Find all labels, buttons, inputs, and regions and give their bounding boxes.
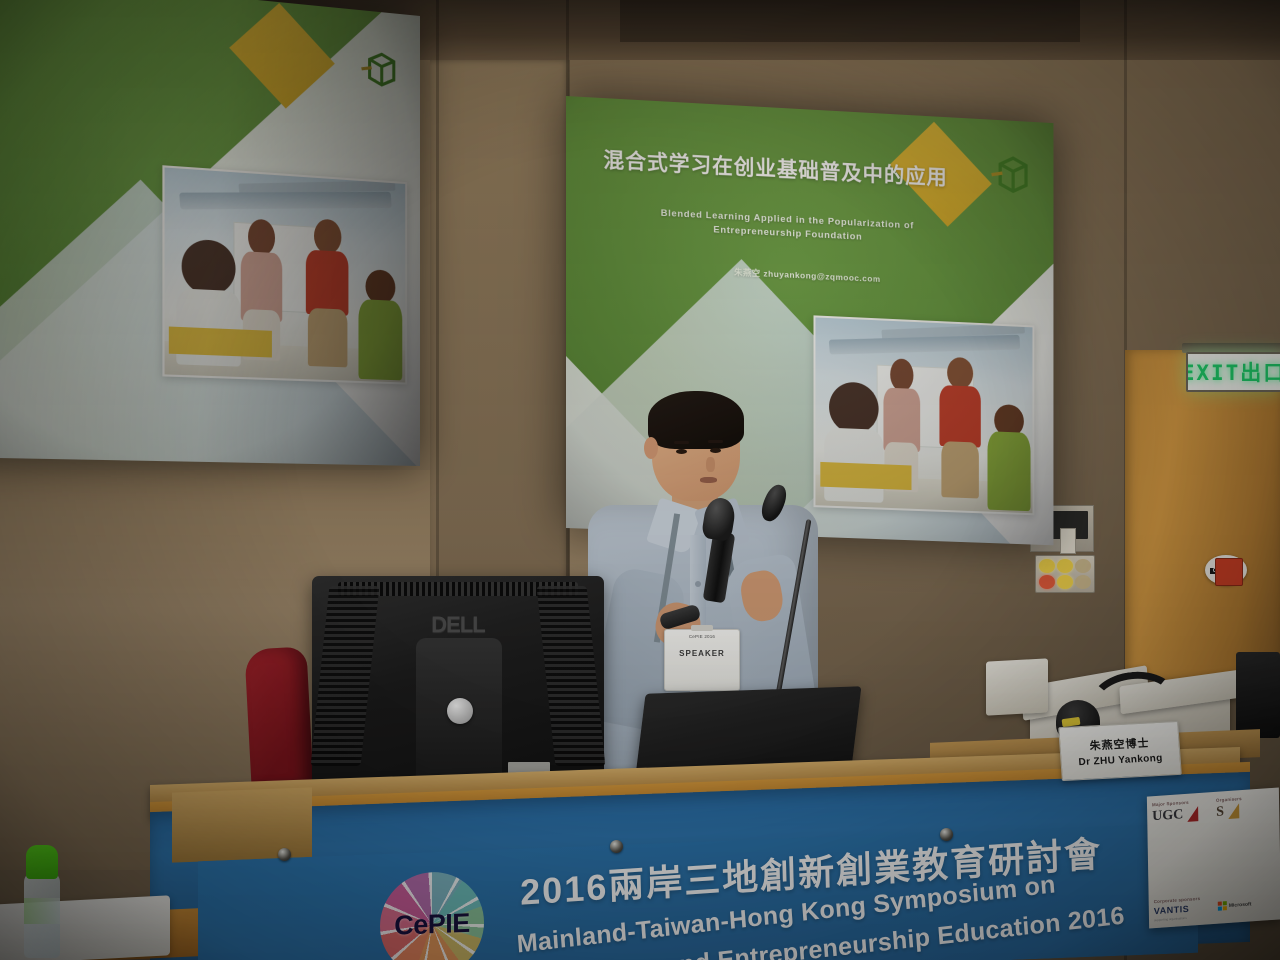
photo-yellow-strip <box>169 327 272 358</box>
speaker-eye <box>710 448 721 453</box>
sponsor-sheet: Major Sponsors UGC Organisers S Corporat… <box>1147 787 1280 928</box>
panel-led[interactable] <box>1057 575 1073 589</box>
sponsor-group-microsoft: . Microsoft <box>1218 891 1276 918</box>
sponsor-logos-major: UGC <box>1152 805 1210 824</box>
wall-panel <box>430 60 570 620</box>
sponsor-group-corporate: Corporate sponsors VANTIS supporting org… <box>1154 895 1212 922</box>
wall-control-panel[interactable] <box>1035 555 1095 593</box>
water-bottle-label <box>24 898 60 924</box>
speaker-hair <box>648 391 744 449</box>
av-black-unit[interactable] <box>1236 652 1280 738</box>
vantis-logo: VANTIS <box>1154 904 1190 916</box>
sponsor-logos-organisers: S <box>1216 801 1274 820</box>
organiser-crest-logo <box>1228 803 1239 819</box>
side-door[interactable] <box>1125 350 1280 680</box>
photo-person <box>306 218 349 365</box>
photo-person <box>987 403 1030 509</box>
panel-led[interactable] <box>1057 559 1073 573</box>
badge-header: CePIE 2016 <box>689 634 715 639</box>
speaker-eyebrow <box>674 441 689 444</box>
green-cube-logo-icon <box>989 147 1032 200</box>
red-chair[interactable] <box>244 646 313 789</box>
shirt-button <box>695 581 701 587</box>
ugc-logo: UGC <box>1152 808 1183 824</box>
podium-wood-edge <box>172 787 312 862</box>
photo-person <box>940 356 981 496</box>
monitor-stand-knob[interactable] <box>447 698 473 724</box>
conference-photo-scene: 注意門 CAUTION 小心門 EXIT出口 <box>0 0 1280 960</box>
wall-label-tag <box>1060 528 1076 554</box>
speaker-nose <box>706 457 715 472</box>
name-card-chinese: 朱燕空博士 <box>1089 734 1150 753</box>
photo-ceiling-duct <box>179 192 391 209</box>
dell-logo: DELL <box>312 612 604 638</box>
speaker-name-card: 朱燕空博士 Dr ZHU Yankong <box>1058 721 1182 781</box>
sponsor-group-major: Major Sponsors UGC <box>1152 798 1210 824</box>
slide-left-photo <box>162 165 407 384</box>
dell-monitor[interactable]: DELL <box>312 576 604 788</box>
speaker-ear <box>644 437 658 459</box>
microsoft-wordmark: Microsoft <box>1229 901 1252 909</box>
microsoft-logo: Microsoft <box>1218 898 1276 911</box>
red-triangle-logo <box>1187 806 1198 822</box>
speaker-eye <box>676 449 687 454</box>
panel-led[interactable] <box>1075 559 1091 573</box>
projection-screen-left: 及中的应用 ation of om <box>0 0 420 466</box>
cepie-logo-text: CePIE <box>380 870 484 960</box>
sponsor-group-organisers: Organisers S <box>1216 794 1274 820</box>
banner-grommet <box>940 828 953 841</box>
slide-left: 及中的应用 ation of om <box>0 0 420 466</box>
banner-grommet <box>278 848 291 861</box>
speaker-mouth <box>700 477 717 483</box>
sponsor-row-major: Major Sponsors UGC Organisers S <box>1152 794 1274 824</box>
ceiling-beam <box>620 0 1080 42</box>
s-mark-logo: S <box>1216 805 1224 820</box>
exit-sign-label: EXIT出口 <box>1186 357 1280 387</box>
panel-led[interactable] <box>1039 575 1055 589</box>
badge-label: SPEAKER <box>679 649 725 658</box>
cepie-logo: CePIE <box>380 870 484 960</box>
green-cube-logo-icon <box>360 40 400 98</box>
badge-clip <box>691 625 713 631</box>
microsoft-squares-icon <box>1218 901 1227 911</box>
speaker-badge: CePIE 2016 SPEAKER <box>664 629 740 691</box>
banner-grommet <box>610 840 623 853</box>
exit-sign: EXIT出口 <box>1186 352 1280 392</box>
emergency-button-box[interactable] <box>1215 558 1243 586</box>
slide-author-name: 朱燕空 <box>734 267 760 278</box>
sponsor-row-corporate: Corporate sponsors VANTIS supporting org… <box>1154 891 1276 922</box>
av-amplifier-box[interactable] <box>986 658 1048 715</box>
panel-led[interactable] <box>1075 575 1091 589</box>
speaker-eyebrow <box>708 440 723 443</box>
water-bottle-cap[interactable] <box>26 845 58 879</box>
panel-led[interactable] <box>1039 559 1055 573</box>
photo-person <box>358 269 402 379</box>
name-card-english: Dr ZHU Yankong <box>1078 753 1163 768</box>
